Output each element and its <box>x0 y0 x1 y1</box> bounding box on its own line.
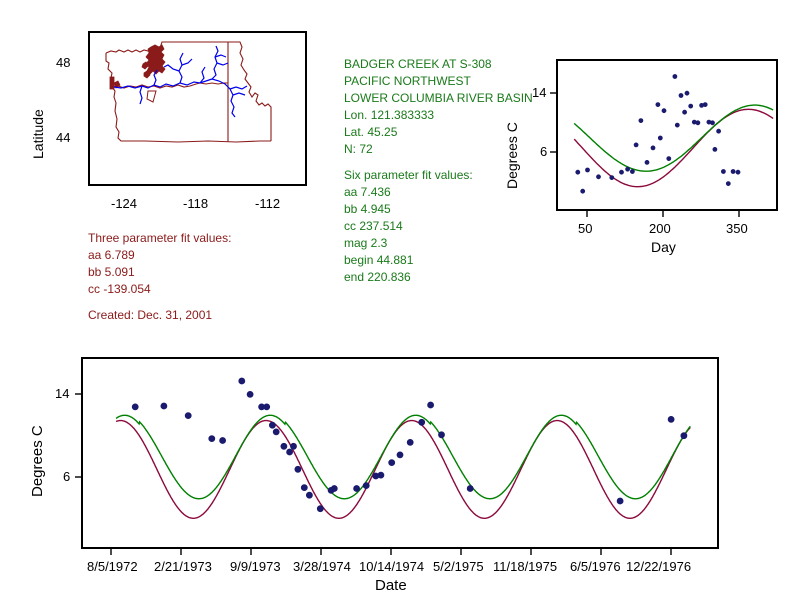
day-plot-xtick-350: 350 <box>726 221 748 236</box>
three-parameter-fit-block: Three parameter fit values: aa 6.789 bb … <box>88 230 231 324</box>
day-plot-xlabel: Day <box>651 239 676 255</box>
six-param-bb: bb 4.945 <box>344 201 533 218</box>
ts-plot-ytick-6: 6 <box>63 469 70 484</box>
ts-plot-xtick-0: 8/5/1972 <box>87 559 138 574</box>
day-plot-graphic <box>556 59 778 211</box>
ts-plot-xtick-6: 11/18/1975 <box>493 559 557 574</box>
six-param-mag: mag 2.3 <box>344 235 533 252</box>
station-basin: LOWER COLUMBIA RIVER BASIN <box>344 90 533 107</box>
ts-plot-graphic <box>81 357 719 549</box>
ts-plot-xtick-7: 6/5/1976 <box>570 559 621 574</box>
ts-plot-xtick-8: 12/22/1976 <box>626 559 691 574</box>
map-xtick-118: -118 <box>183 196 208 211</box>
map-ytick-44: 44 <box>56 130 70 145</box>
created-date: Created: Dec. 31, 2001 <box>88 307 231 324</box>
location-map-panel: Latitude 48 44 -124 -118 -112 <box>88 31 307 186</box>
map-ylabel: Latitude <box>30 109 46 159</box>
day-plot-ytick-6: 6 <box>540 144 547 159</box>
three-param-aa: aa 6.789 <box>88 247 231 264</box>
six-param-cc: cc 237.514 <box>344 218 533 235</box>
three-param-bb: bb 5.091 <box>88 264 231 281</box>
time-series-plot-panel: Degrees C 14 6 8/5/1972 2/21/1973 9/9/19… <box>81 357 719 549</box>
ts-plot-xtick-2: 9/9/1973 <box>230 559 281 574</box>
ts-plot-xtick-1: 2/21/1973 <box>154 559 212 574</box>
text-spacer <box>88 298 231 307</box>
ts-plot-xlabel: Date <box>375 577 407 594</box>
station-name: BADGER CREEK AT S-308 <box>344 56 533 73</box>
three-param-cc: cc -139.054 <box>88 281 231 298</box>
day-plot-xtick-50: 50 <box>578 221 592 236</box>
three-param-heading: Three parameter fit values: <box>88 230 231 247</box>
map-xtick-112: -112 <box>255 196 280 211</box>
six-param-begin: begin 44.881 <box>344 252 533 269</box>
ts-plot-xtick-4: 10/14/1974 <box>359 559 424 574</box>
map-ytick-48: 48 <box>56 55 70 70</box>
day-plot-xtick-200: 200 <box>649 221 671 236</box>
map-graphic <box>88 31 307 186</box>
ts-plot-ylabel: Degrees C <box>29 425 46 497</box>
station-region: PACIFIC NORTHWEST <box>344 73 533 90</box>
day-of-year-plot-panel: Degrees C 14 6 50 200 350 Day <box>556 59 778 211</box>
ts-plot-ytick-14: 14 <box>55 386 69 401</box>
day-plot-ylabel: Degrees C <box>504 122 520 189</box>
ts-plot-xtick-5: 5/2/1975 <box>433 559 484 574</box>
map-xtick-124: -124 <box>111 196 137 211</box>
ts-plot-xtick-3: 3/28/1974 <box>293 559 351 574</box>
day-plot-ytick-14: 14 <box>532 85 546 100</box>
six-param-end: end 220.836 <box>344 269 533 286</box>
